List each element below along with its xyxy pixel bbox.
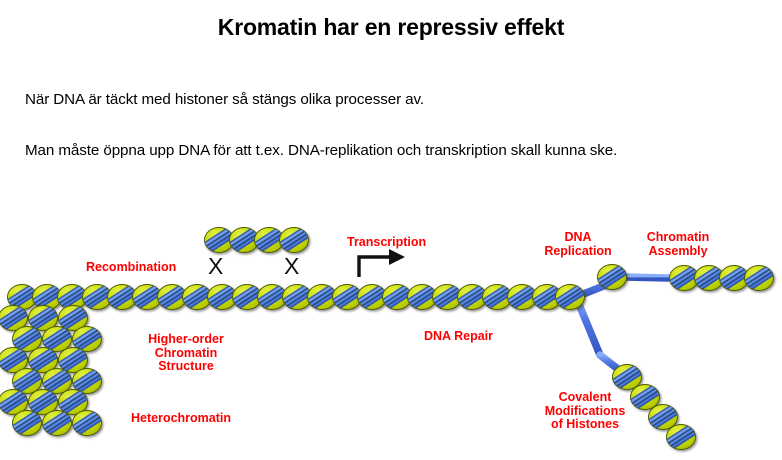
label-covalent-modifications-of-histones: Covalent Modifications of Histones (525, 391, 645, 432)
label-transcription: Transcription (347, 236, 426, 250)
label-dna-replication: DNA Replication (533, 231, 623, 258)
label-chromatin-assembly: Chromatin Assembly (628, 231, 728, 258)
body-text-line-1: När DNA är täckt med histoner så stängs … (25, 91, 424, 108)
recombination-crossover-mark-right: X (284, 255, 299, 278)
label-dna-repair: DNA Repair (424, 330, 493, 344)
recombination-crossover-mark-left: X (208, 255, 223, 278)
chromatin-processes-diagram: Recombination X X Transcription DNA Repl… (0, 205, 782, 460)
replication-fork-linkers (576, 277, 668, 373)
daughter-strand-upper (592, 261, 779, 294)
transcription-arrow-icon (359, 249, 405, 277)
label-recombination: Recombination (86, 261, 176, 275)
recombination-free-fragment (199, 224, 314, 256)
page-title: Kromatin har en repressiv effekt (0, 14, 782, 41)
label-higher-order-chromatin-structure: Higher-order Chromatin Structure (131, 333, 241, 374)
label-heterochromatin: Heterochromatin (131, 412, 231, 426)
main-chromatin-fibre (2, 281, 590, 313)
body-text-line-2: Man måste öppna upp DNA för att t.ex. DN… (25, 142, 617, 159)
heterochromatin-block (0, 302, 107, 439)
